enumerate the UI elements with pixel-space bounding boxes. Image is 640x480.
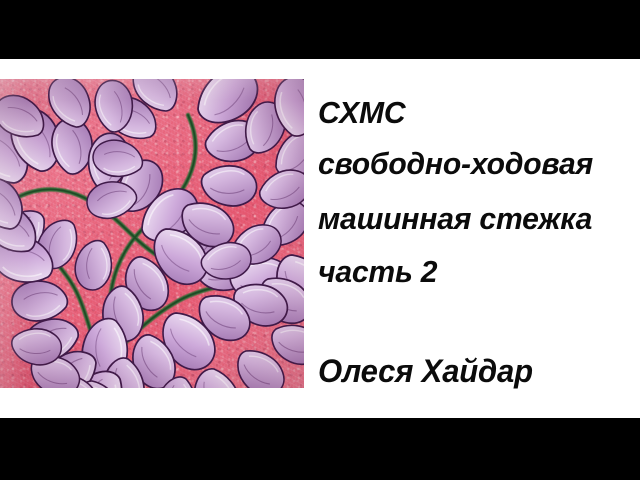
letterbox-bar-bottom [0, 418, 640, 480]
letterbox-bar-top [0, 0, 640, 59]
quilted-feather-sample-image [0, 79, 304, 388]
author-name: Олеся Хайдар [318, 356, 533, 387]
title-line-4: часть 2 [318, 256, 437, 287]
feather-motif-vector [0, 79, 304, 388]
thumbnail-canvas: СХМС свободно-ходовая машинная стежка ча… [0, 0, 640, 480]
title-line-1: СХМС [318, 97, 405, 128]
title-line-3: машинная стежка [318, 203, 592, 234]
title-line-2: свободно-ходовая [318, 148, 593, 179]
